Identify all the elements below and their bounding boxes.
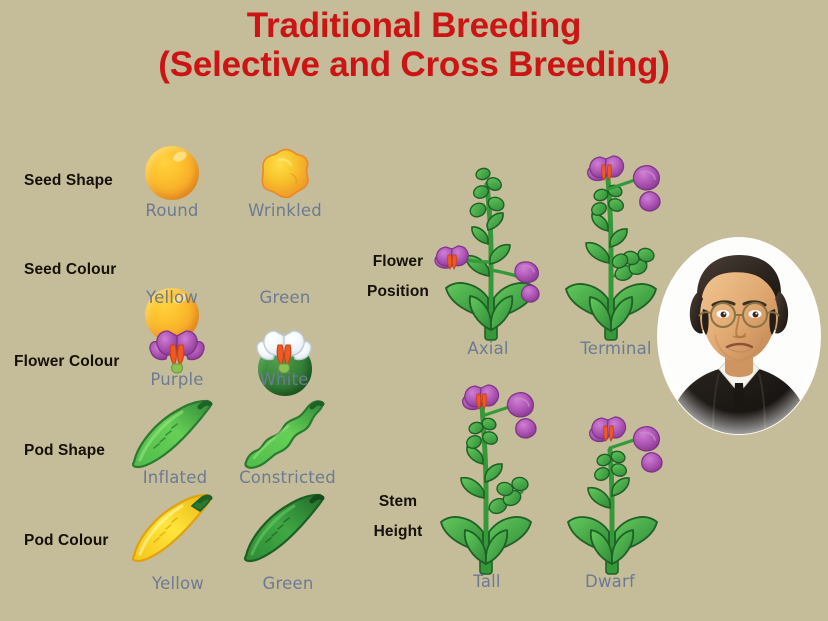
value-label-pod-green: Green bbox=[233, 574, 343, 593]
inflated-pod-icon bbox=[126, 398, 224, 470]
value-label-wrinkled: Wrinkled bbox=[230, 201, 340, 220]
value-label-purple: Purple bbox=[122, 370, 232, 389]
wrinkled-seed-icon bbox=[258, 148, 312, 200]
round-seed-icon bbox=[145, 146, 199, 200]
trait-label-flower-colour: Flower Colour bbox=[14, 353, 120, 371]
trait-label-flower-position-line1: Flower bbox=[373, 253, 424, 270]
value-label-constricted: Constricted bbox=[230, 468, 345, 487]
value-label-axial: Axial bbox=[438, 339, 538, 358]
trait-label-stem-height-line2: Height bbox=[374, 523, 423, 540]
trait-label-flower-position-line2: Position bbox=[367, 283, 429, 300]
trait-label-seed-shape: Seed Shape bbox=[24, 172, 113, 190]
axial-flower-plant-icon bbox=[430, 158, 552, 340]
value-label-seed-green: Green bbox=[230, 288, 340, 307]
mendel-illustration bbox=[657, 237, 821, 435]
trait-label-pod-shape: Pod Shape bbox=[24, 442, 105, 460]
value-label-round: Round bbox=[117, 201, 227, 220]
title-line-1: Traditional Breeding bbox=[0, 6, 828, 45]
constricted-pod-icon bbox=[238, 398, 336, 470]
yellow-pod-icon bbox=[126, 492, 224, 564]
page-title: Traditional Breeding (Selective and Cros… bbox=[0, 6, 828, 84]
trait-label-flower-position: Flower Position bbox=[355, 247, 441, 307]
value-label-inflated: Inflated bbox=[120, 468, 230, 487]
purple-flower-icon bbox=[146, 325, 208, 375]
title-line-2: (Selective and Cross Breeding) bbox=[0, 45, 828, 84]
value-label-white: White bbox=[229, 370, 339, 389]
white-flower-icon bbox=[253, 325, 315, 375]
dwarf-plant-icon bbox=[560, 424, 680, 574]
value-label-dwarf: Dwarf bbox=[560, 572, 660, 591]
trait-label-stem-height-line1: Stem bbox=[379, 493, 417, 510]
gregor-mendel-portrait bbox=[657, 237, 821, 435]
green-pod-icon bbox=[238, 492, 336, 564]
value-label-seed-yellow: Yellow bbox=[117, 288, 227, 307]
trait-label-pod-colour: Pod Colour bbox=[24, 532, 109, 550]
value-label-tall: Tall bbox=[440, 572, 534, 591]
slide-canvas: Traditional Breeding (Selective and Cros… bbox=[0, 0, 828, 621]
value-label-pod-yellow: Yellow bbox=[123, 574, 233, 593]
tall-plant-icon bbox=[428, 398, 554, 574]
trait-label-seed-colour: Seed Colour bbox=[24, 261, 116, 279]
trait-label-stem-height: Stem Height bbox=[358, 487, 438, 547]
